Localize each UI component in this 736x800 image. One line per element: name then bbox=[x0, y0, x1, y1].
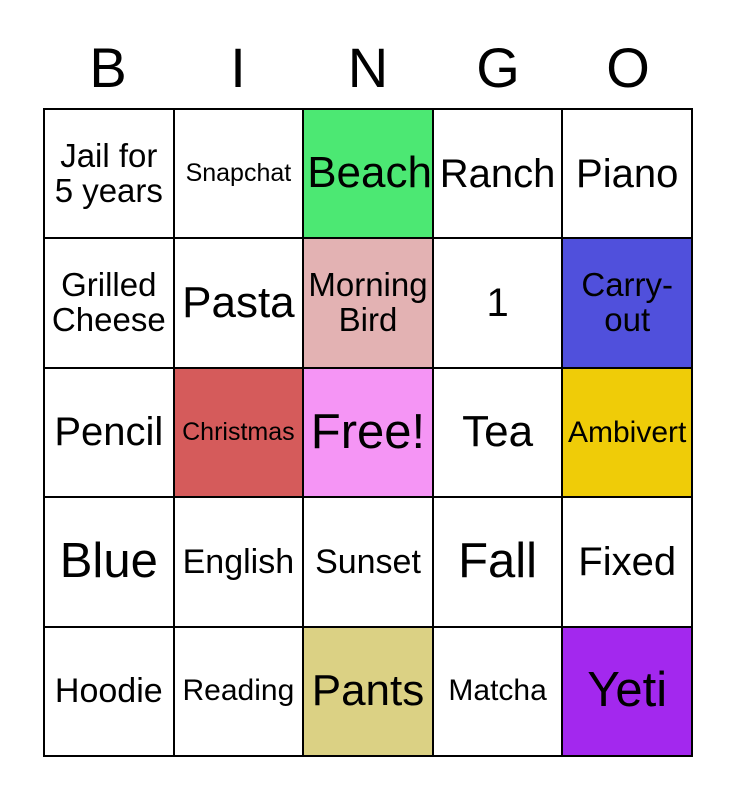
bingo-free-space[interactable]: Free! bbox=[304, 369, 432, 496]
bingo-cell[interactable]: Tea bbox=[434, 369, 562, 496]
bingo-cell[interactable]: Pencil bbox=[45, 369, 173, 496]
bingo-card: B I N G O Jail for 5 years Snapchat Beac… bbox=[0, 0, 736, 800]
bingo-header-letter-b: B bbox=[43, 28, 173, 108]
bingo-cell[interactable]: Ranch bbox=[434, 110, 562, 237]
bingo-cell[interactable]: Blue bbox=[45, 498, 173, 625]
bingo-cell-label: Pasta bbox=[178, 280, 300, 327]
bingo-cell-label: Free! bbox=[307, 407, 429, 459]
bingo-cell[interactable]: Christmas bbox=[175, 369, 303, 496]
bingo-cell-label: Snapchat bbox=[178, 160, 300, 187]
bingo-cell-label: Pencil bbox=[48, 411, 170, 453]
bingo-cell-label: Matcha bbox=[437, 675, 559, 707]
bingo-cell-label: Beach bbox=[307, 150, 429, 197]
bingo-cell[interactable]: Fall bbox=[434, 498, 562, 625]
bingo-cell-label: Grilled Cheese bbox=[48, 268, 170, 338]
bingo-cell[interactable]: Grilled Cheese bbox=[45, 239, 173, 366]
bingo-cell-label: Blue bbox=[48, 536, 170, 588]
bingo-cell[interactable]: Sunset bbox=[304, 498, 432, 625]
bingo-cell-label: Tea bbox=[437, 409, 559, 456]
bingo-cell-label: Fixed bbox=[566, 541, 688, 583]
bingo-cell-label: Ambivert bbox=[566, 417, 688, 449]
bingo-cell-label: Pants bbox=[307, 668, 429, 715]
bingo-grid: Jail for 5 years Snapchat Beach Ranch Pi… bbox=[43, 108, 693, 757]
bingo-cell[interactable]: Reading bbox=[175, 628, 303, 755]
bingo-cell-label: Christmas bbox=[178, 419, 300, 446]
bingo-cell[interactable]: Yeti bbox=[563, 628, 691, 755]
bingo-cell[interactable]: Carry- out bbox=[563, 239, 691, 366]
bingo-cell-label: Hoodie bbox=[48, 673, 170, 709]
bingo-header-letter-o: O bbox=[563, 28, 693, 108]
bingo-header-letter-g: G bbox=[433, 28, 563, 108]
bingo-cell[interactable]: Ambivert bbox=[563, 369, 691, 496]
bingo-cell[interactable]: Fixed bbox=[563, 498, 691, 625]
bingo-cell-label: 1 bbox=[437, 282, 559, 324]
bingo-cell-label: Sunset bbox=[307, 544, 429, 580]
bingo-cell[interactable]: Jail for 5 years bbox=[45, 110, 173, 237]
bingo-cell-label: Morning Bird bbox=[307, 268, 429, 338]
bingo-cell-label: Ranch bbox=[437, 153, 559, 195]
bingo-cell-label: Piano bbox=[566, 153, 688, 195]
bingo-cell[interactable]: Matcha bbox=[434, 628, 562, 755]
bingo-cell[interactable]: Hoodie bbox=[45, 628, 173, 755]
bingo-cell[interactable]: Pants bbox=[304, 628, 432, 755]
bingo-cell[interactable]: Piano bbox=[563, 110, 691, 237]
bingo-cell[interactable]: 1 bbox=[434, 239, 562, 366]
bingo-cell[interactable]: Snapchat bbox=[175, 110, 303, 237]
bingo-cell[interactable]: Morning Bird bbox=[304, 239, 432, 366]
bingo-cell[interactable]: Beach bbox=[304, 110, 432, 237]
bingo-header-letter-n: N bbox=[303, 28, 433, 108]
bingo-cell-label: Yeti bbox=[566, 665, 688, 717]
bingo-header-letter-i: I bbox=[173, 28, 303, 108]
bingo-cell[interactable]: English bbox=[175, 498, 303, 625]
bingo-cell-label: English bbox=[178, 544, 300, 580]
bingo-cell[interactable]: Pasta bbox=[175, 239, 303, 366]
bingo-cell-label: Reading bbox=[178, 675, 300, 707]
bingo-cell-label: Jail for 5 years bbox=[48, 139, 170, 209]
bingo-cell-label: Fall bbox=[437, 536, 559, 588]
bingo-header-row: B I N G O bbox=[43, 28, 693, 108]
bingo-cell-label: Carry- out bbox=[566, 268, 688, 338]
